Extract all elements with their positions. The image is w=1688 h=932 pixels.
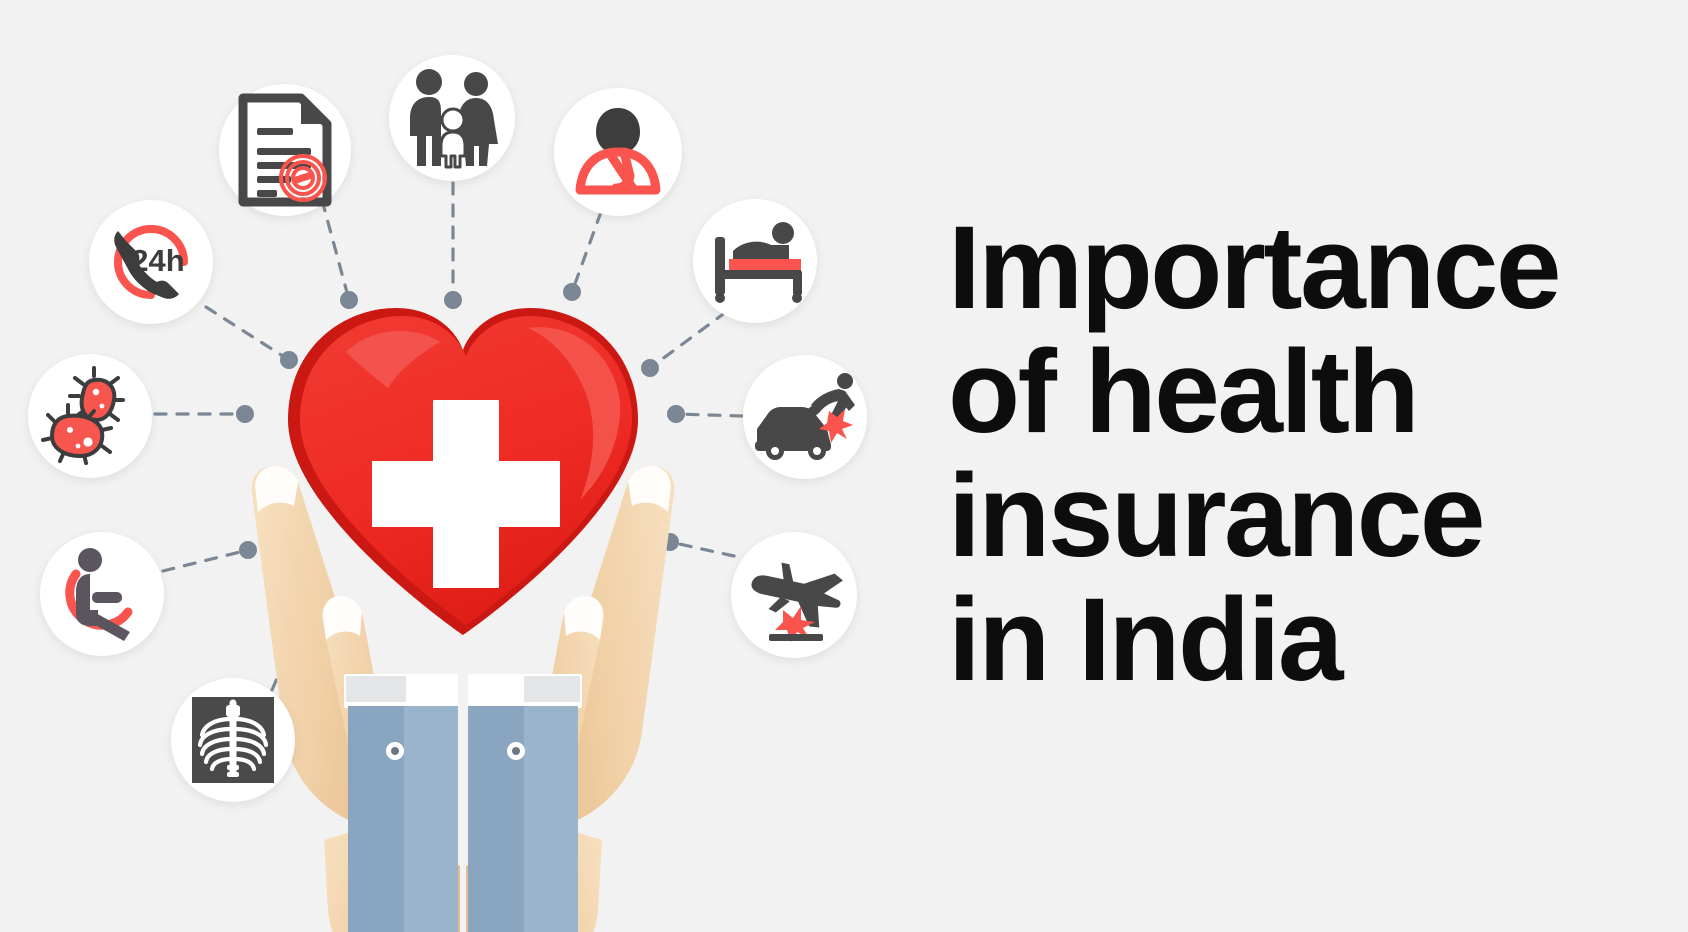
hospital-bed-icon[interactable] bbox=[693, 199, 817, 323]
title-line-4: in India bbox=[948, 578, 1648, 702]
bacteria-icon[interactable] bbox=[28, 354, 152, 478]
title-line-1: Importance bbox=[948, 206, 1648, 330]
family-icon[interactable] bbox=[389, 55, 515, 181]
document-seal-icon[interactable] bbox=[219, 84, 351, 216]
hands-holding-heart bbox=[228, 280, 698, 932]
page-title: Importance of health insurance in India bbox=[948, 206, 1648, 702]
xray-icon[interactable] bbox=[171, 678, 295, 802]
car-accident-icon[interactable] bbox=[743, 355, 867, 479]
title-line-3: insurance bbox=[948, 454, 1648, 578]
title-line-2: of health bbox=[948, 330, 1648, 454]
infographic-canvas: 24h bbox=[0, 0, 1688, 932]
phone-24h-icon[interactable]: 24h bbox=[89, 200, 213, 324]
wheelchair-icon[interactable] bbox=[40, 532, 164, 656]
phone-24h-label: 24h bbox=[131, 243, 184, 278]
arm-sling-icon[interactable] bbox=[554, 88, 682, 216]
shirt-sleeves bbox=[342, 670, 582, 932]
plane-crash-icon[interactable] bbox=[731, 532, 857, 658]
